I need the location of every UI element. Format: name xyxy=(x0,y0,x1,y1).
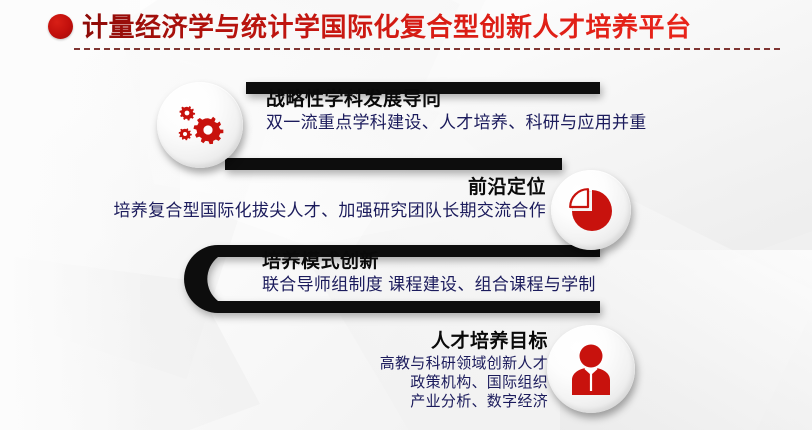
slide-header: 计量经济学与统计学国际化复合型创新人才培养平台 xyxy=(0,0,812,60)
block-goal: 人才培养目标 高教与科研领域创新人才 政策机构、国际组织 产业分析、数字经济 xyxy=(330,330,548,411)
pie-chart-icon xyxy=(567,186,615,234)
gears-icon-disc xyxy=(157,82,243,168)
header-divider xyxy=(74,48,780,50)
block-goal-desc-2: 政策机构、国际组织 xyxy=(330,373,548,392)
person-icon-disc xyxy=(547,325,635,413)
red-bullet-icon xyxy=(48,14,73,39)
page-title: 计量经济学与统计学国际化复合型创新人才培养平台 xyxy=(82,7,692,44)
block-goal-desc-3: 产业分析、数字经济 xyxy=(330,392,548,411)
slide-canvas: 计量经济学与统计学国际化复合型创新人才培养平台 战略性学科发展导向 双一流重点学… xyxy=(0,0,812,430)
block-goal-desc-1: 高教与科研领域创新人才 xyxy=(330,354,548,373)
block-strategy-desc: 双一流重点学科建设、人才培养、科研与应用并重 xyxy=(266,112,647,135)
block-model: 培养模式创新 联合导师组制度 课程建设、组合课程与学制 xyxy=(262,250,596,297)
block-model-title: 培养模式创新 xyxy=(262,250,596,274)
block-positioning-title: 前沿定位 xyxy=(50,176,546,200)
block-positioning: 前沿定位 培养复合型国际化拔尖人才、加强研究团队长期交流合作 xyxy=(50,176,546,223)
block-strategy: 战略性学科发展导向 双一流重点学科建设、人才培养、科研与应用并重 xyxy=(266,88,647,135)
block-model-desc: 联合导师组制度 课程建设、组合课程与学制 xyxy=(262,274,596,297)
gears-icon xyxy=(174,101,226,149)
pie-chart-icon-disc xyxy=(551,170,631,250)
block-goal-title: 人才培养目标 xyxy=(330,330,548,354)
block-positioning-desc: 培养复合型国际化拔尖人才、加强研究团队长期交流合作 xyxy=(50,200,546,223)
block-strategy-title: 战略性学科发展导向 xyxy=(266,88,647,112)
person-icon xyxy=(566,343,616,395)
